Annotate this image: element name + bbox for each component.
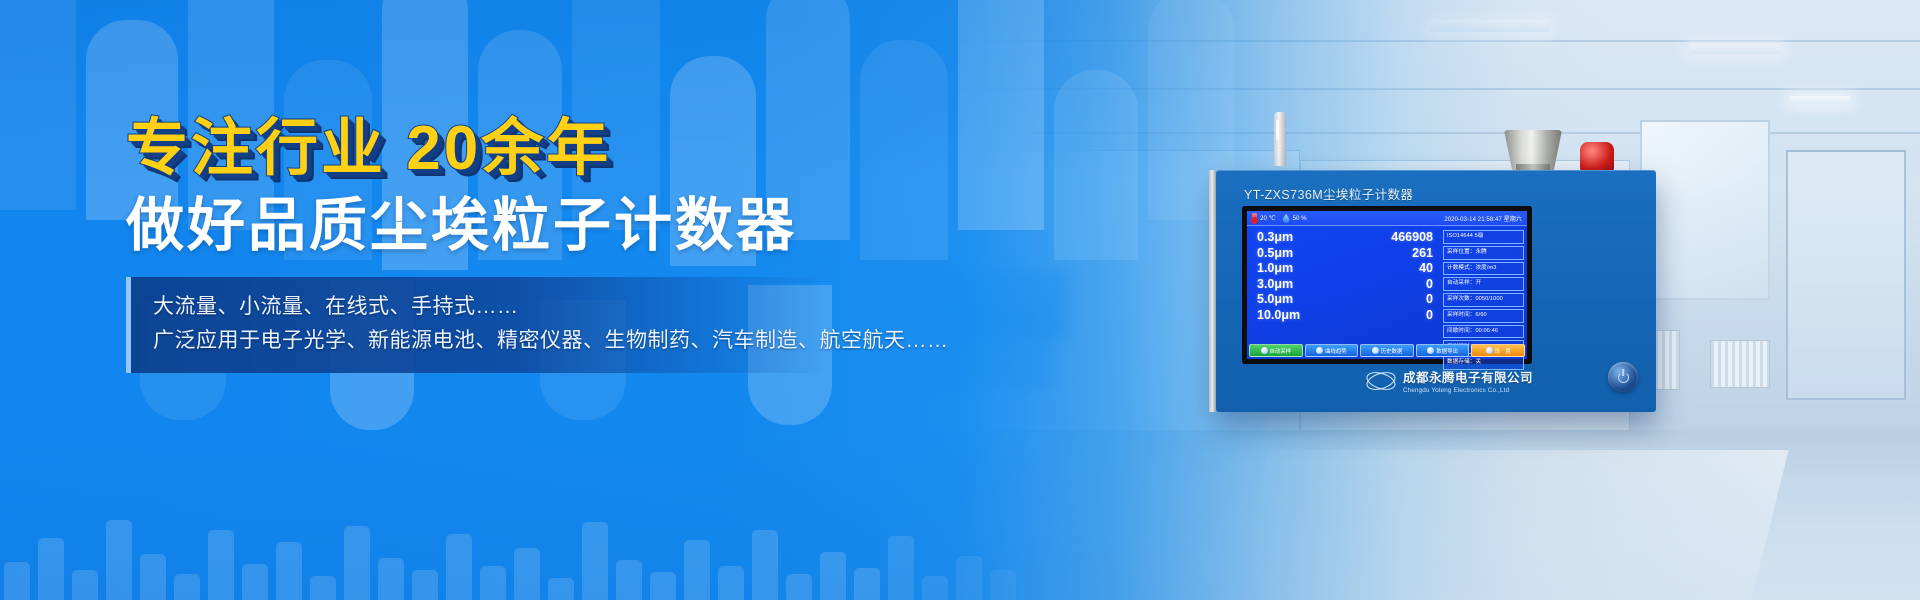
tab-label: 自动采样: [1270, 347, 1292, 355]
tab-icon: [1427, 347, 1434, 354]
particle-reading-row: 0.3μm466908: [1257, 231, 1433, 245]
brand-logo-row: 成都永腾电子有限公司 Chengdu Yoteng Electronics Co…: [1366, 367, 1533, 394]
screen-tab-bar[interactable]: 自动采样曲线趋势历史数据数据导出设 置: [1247, 343, 1527, 359]
screen-tab-3[interactable]: 历史数据: [1360, 344, 1414, 357]
temperature-value: 20 ℃: [1260, 215, 1276, 222]
particle-reading-row: 3.0μm0: [1257, 278, 1433, 292]
tab-label: 数据导出: [1436, 347, 1458, 355]
particle-count-value: 40: [1419, 262, 1433, 276]
screen-main: 0.3μm4669080.5μm2611.0μm403.0μm05.0μm010…: [1247, 226, 1527, 343]
sampling-info-cell: 采样次数：0050/1000: [1443, 293, 1524, 307]
particle-count-value: 0: [1426, 309, 1433, 323]
tab-icon: [1316, 347, 1323, 354]
headline-primary: 专注行业 20余年: [126, 118, 896, 180]
sampling-info-cell: 自动采样：开: [1443, 277, 1524, 291]
particle-count-value: 0: [1426, 278, 1433, 292]
screen-tab-1[interactable]: 自动采样: [1249, 344, 1303, 357]
subtitle-band: 大流量、小流量、在线式、手持式…… 广泛应用于电子光学、新能源电池、精密仪器、生…: [126, 277, 826, 373]
sampling-info-cell: 间歇时间：00:06:46: [1443, 325, 1524, 339]
subtitle-line-1: 大流量、小流量、在线式、手持式……: [153, 290, 804, 324]
particle-reading-row: 0.5μm261: [1257, 247, 1433, 261]
particle-size-label: 3.0μm: [1257, 278, 1293, 292]
particle-readings-list: 0.3μm4669080.5μm2611.0μm403.0μm05.0μm010…: [1247, 226, 1441, 343]
sampling-info-panel: ISO14644 5级采样位置：永腾计数模式：浓度/m3自动采样：开采样次数：0…: [1441, 226, 1527, 343]
banner-stage: 专注行业 20余年 做好品质尘埃粒子计数器 大流量、小流量、在线式、手持式…… …: [0, 0, 1920, 600]
tab-label: 曲线趋势: [1325, 347, 1347, 355]
power-icon: [1618, 372, 1629, 383]
power-button[interactable]: [1608, 362, 1638, 392]
sampling-info-cell: 计数模式：浓度/m3: [1443, 262, 1524, 276]
screen-bezel: 20 ℃ 50 % 2020-03-14 21:58:47 星期六 0.3μm4…: [1242, 206, 1532, 364]
particle-reading-row: 1.0μm40: [1257, 262, 1433, 276]
thermometer-icon: [1252, 213, 1257, 223]
device-model-label: YT-ZXS736M尘埃粒子计数器: [1244, 184, 1413, 203]
yoteng-logo-icon: [1366, 373, 1396, 389]
particle-counter-device: YT-ZXS736M尘埃粒子计数器 20 ℃ 50 % 2020-03-14: [1216, 112, 1656, 412]
brand-name-en: Chengdu Yoteng Electronics Co.,Ltd: [1403, 387, 1533, 394]
water-drop-icon: [1283, 214, 1290, 223]
tab-icon: [1372, 347, 1379, 354]
brand-text: 成都永腾电子有限公司 Chengdu Yoteng Electronics Co…: [1403, 367, 1533, 394]
particle-reading-row: 5.0μm0: [1257, 293, 1433, 307]
equalizer-strip: [0, 480, 1050, 600]
particle-count-value: 0: [1426, 293, 1433, 307]
screen-tab-5[interactable]: 设 置: [1471, 344, 1525, 357]
alarm-light-icon: [1580, 142, 1614, 172]
datetime-value: 2020-03-14 21:58:47 星期六: [1444, 214, 1522, 223]
tab-label: 历史数据: [1381, 347, 1403, 355]
sensor-probe-icon: [1274, 112, 1286, 166]
particle-size-label: 1.0μm: [1257, 262, 1293, 276]
marketing-copy: 专注行业 20余年 做好品质尘埃粒子计数器 大流量、小流量、在线式、手持式…… …: [126, 118, 896, 373]
particle-size-label: 10.0μm: [1257, 309, 1300, 323]
device-screen[interactable]: 20 ℃ 50 % 2020-03-14 21:58:47 星期六 0.3μm4…: [1247, 211, 1527, 359]
particle-size-label: 0.3μm: [1257, 231, 1293, 245]
tab-icon: [1261, 347, 1268, 354]
sampling-info-cell: ISO14644 5级: [1443, 230, 1524, 244]
sampling-info-cell: 采样时间：6/60: [1443, 309, 1524, 323]
screen-tab-4[interactable]: 数据导出: [1416, 344, 1470, 357]
screen-tab-2[interactable]: 曲线趋势: [1305, 344, 1359, 357]
headline-secondary: 做好品质尘埃粒子计数器: [126, 196, 896, 257]
particle-count-value: 466908: [1391, 231, 1433, 245]
sampling-info-cell: 采样位置：永腾: [1443, 246, 1524, 260]
subtitle-line-2: 广泛应用于电子光学、新能源电池、精密仪器、生物制药、汽车制造、航空航天……: [153, 324, 804, 358]
screen-status-bar: 20 ℃ 50 % 2020-03-14 21:58:47 星期六: [1247, 211, 1527, 226]
humidity-group: 50 %: [1283, 214, 1307, 223]
device-body: YT-ZXS736M尘埃粒子计数器 20 ℃ 50 % 2020-03-14: [1216, 170, 1656, 412]
brand-name-cn: 成都永腾电子有限公司: [1403, 367, 1533, 386]
particle-size-label: 0.5μm: [1257, 247, 1293, 261]
particle-count-value: 261: [1412, 247, 1433, 261]
particle-reading-row: 10.0μm0: [1257, 309, 1433, 323]
particle-size-label: 5.0μm: [1257, 293, 1293, 307]
temperature-group: 20 ℃: [1252, 213, 1276, 223]
humidity-value: 50 %: [1293, 215, 1307, 222]
tab-label: 设 置: [1495, 347, 1511, 355]
tab-icon: [1486, 347, 1493, 354]
